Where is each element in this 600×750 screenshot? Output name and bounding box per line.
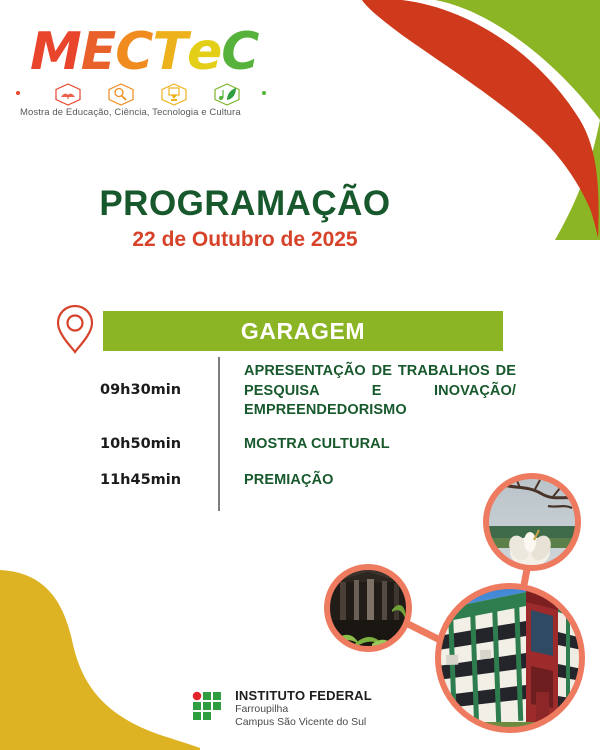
footer-institution: INSTITUTO FEDERAL Farroupilha Campus São…	[0, 688, 600, 728]
music-leaf-icon	[215, 84, 239, 105]
schedule-row: 10h50min MOSTRA CULTURAL	[100, 435, 520, 455]
page-title: PROGRAMAÇÃO	[0, 184, 600, 224]
schedule-time: 09h30min	[100, 362, 218, 398]
mectec-wordmark: MECTeC	[30, 26, 276, 78]
mectec-logo: MECTeC	[16, 26, 276, 118]
schedule-row: 11h45min PREMIAÇÃO	[100, 471, 520, 491]
schedule-list: 09h30min APRESENTAÇÃO DE TRABALHOS DE PE…	[100, 362, 520, 507]
schedule-time: 10h50min	[100, 435, 218, 452]
instituto-federal-grid-logo	[192, 691, 226, 725]
footer-institution-name: INSTITUTO FEDERAL	[235, 688, 372, 703]
map-pin-icon	[53, 303, 97, 355]
logo-tagline: Mostra de Educação, Ciência, Tecnologia …	[20, 107, 276, 118]
footer-unit-name: Farroupilha	[235, 703, 372, 715]
book-icon	[56, 84, 80, 105]
poster-canvas: MECTeC	[0, 0, 600, 750]
schedule-title: APRESENTAÇÃO DE TRABALHOS DE PESQUISA E …	[218, 362, 516, 421]
photo-wooden-shed	[327, 567, 409, 652]
logo-timeline	[16, 80, 266, 106]
event-date: 22 de Outubro de 2025	[0, 228, 600, 252]
schedule-title: PREMIAÇÃO	[218, 471, 516, 491]
connector-line	[510, 564, 528, 658]
connector-line	[400, 620, 440, 640]
schedule-time: 11h45min	[100, 471, 218, 488]
venue-banner: GARAGEM	[103, 311, 503, 351]
venue-label: GARAGEM	[241, 318, 365, 345]
footer-campus-name: Campus São Vicente do Sul	[235, 716, 372, 728]
schedule-title: MOSTRA CULTURAL	[218, 435, 516, 455]
lamp-icon	[162, 84, 186, 105]
magnifier-icon	[109, 84, 133, 105]
schedule-row: 09h30min APRESENTAÇÃO DE TRABALHOS DE PE…	[100, 362, 520, 421]
